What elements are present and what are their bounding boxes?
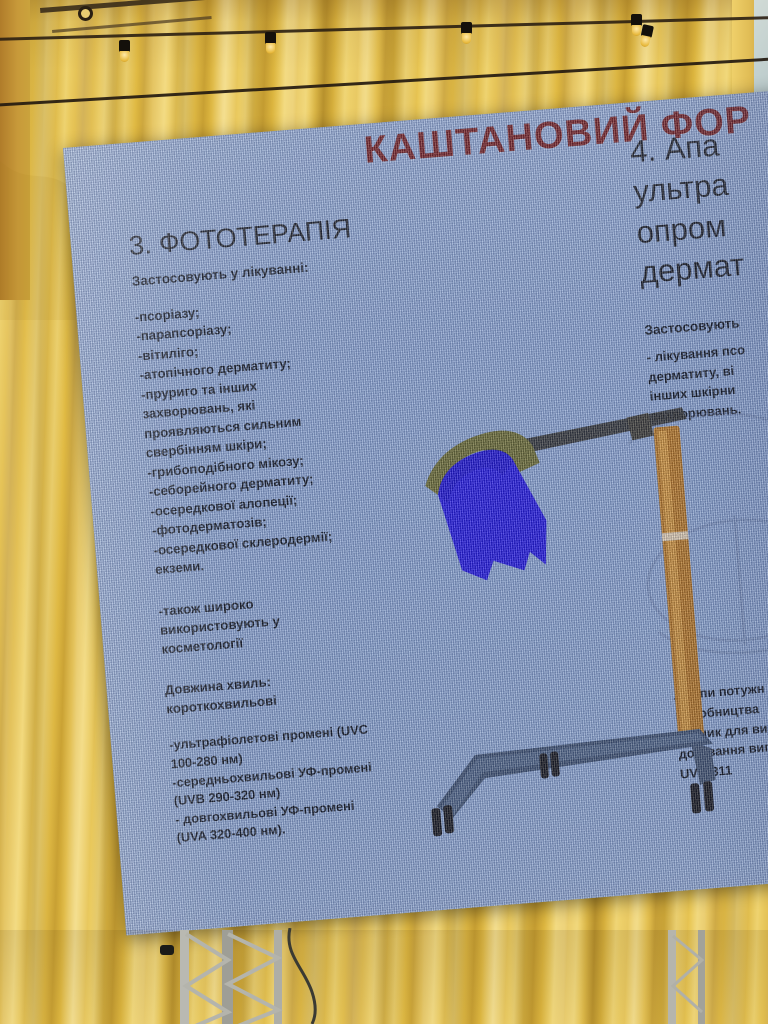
stage-truss-right: [660, 930, 720, 1024]
stage-truss-structure: [176, 930, 296, 1024]
led-screen: КАШТАНОВИЙ ФОР 3. ФОТОТЕРАПІЯ Застосовую…: [63, 89, 768, 935]
device-caster-wheel: [690, 781, 714, 814]
string-light-bulb: [460, 22, 473, 42]
cosmetology-block: -також широко використовують у косметоло…: [158, 582, 412, 659]
string-light-bulb: [264, 32, 277, 52]
truss-clamp: [160, 945, 174, 955]
device-base-post: [691, 740, 716, 786]
slide-left-column: 3. ФОТОТЕРАПІЯ Застосовують у лікуванні:…: [128, 211, 427, 848]
presentation-slide: КАШТАНОВИЙ ФОР 3. ФОТОТЕРАПІЯ Застосовую…: [63, 89, 768, 935]
string-light-bulb: [118, 40, 131, 60]
photo-scene: КАШТАНОВИЙ ФОР 3. ФОТОТЕРАПІЯ Застосовую…: [0, 0, 768, 1024]
indications-list: -псоріазу; -парапсоріазу; -вітиліго; -ат…: [134, 289, 405, 580]
rail-hook-icon: [78, 6, 93, 21]
hanging-cable: [282, 928, 342, 1024]
slide-right-column: 4. Апа ультра опром дермат Застосовують …: [629, 109, 768, 426]
right-heading: 4. Апа ультра опром дермат: [629, 109, 768, 294]
right-lead-text: Застосовують: [644, 299, 768, 338]
uv-phototherapy-device-image: [385, 387, 752, 892]
wavelength-heading-block: Довжина хвиль: короткохвильові: [164, 661, 416, 719]
left-lead-text: Застосовують у лікуванні:: [131, 254, 381, 289]
wavelength-list: -ультрафіолетові промені (UVC 100-280 нм…: [169, 717, 427, 848]
left-heading: 3. ФОТОТЕРАПІЯ: [128, 211, 380, 262]
